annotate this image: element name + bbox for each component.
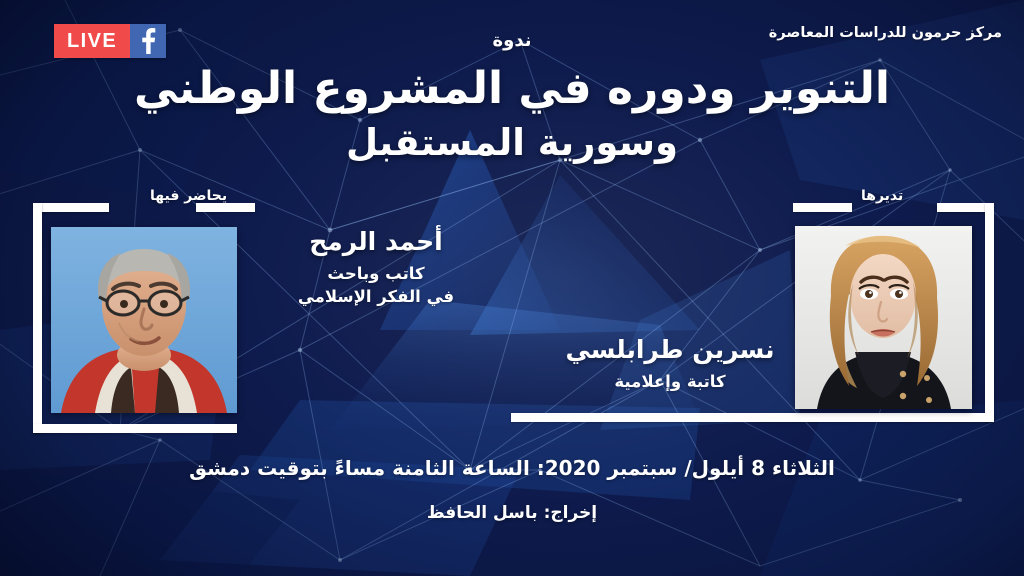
page-title-line-2: وسورية المستقبل [0, 124, 1024, 163]
speaker-role-line-1: كاتب وباحث [256, 263, 496, 284]
speaker-frame-left-bar [33, 203, 42, 433]
director-credit: إخراج: باسل الحافظ [0, 503, 1024, 523]
event-datetime: الثلاثاء 8 أيلول/ سبتمبر 2020: الساعة ال… [0, 456, 1024, 480]
speaker-info: أحمد الرمح كاتب وباحث في الفكر الإسلامي [256, 228, 496, 307]
speaker-role-line-2: في الفكر الإسلامي [256, 286, 496, 307]
host-frame-bottom-bar [511, 413, 994, 422]
event-kicker: ندوة [0, 30, 1024, 51]
host-frame-top-left-bar [793, 203, 852, 212]
speaker-caption: يحاضر فيها [150, 188, 227, 204]
host-photo [795, 226, 972, 409]
speaker-frame-top-left-bar [33, 203, 109, 212]
page-title-line-1: التنوير ودوره في المشروع الوطني [0, 66, 1024, 112]
host-caption: تديرها [861, 188, 903, 204]
host-frame-right-bar [985, 203, 994, 422]
broadcast-banner: LIVE مركز حرمون للدراسات المعاصرة ندوة ا… [0, 0, 1024, 576]
host-name: نسرين طرابلسي [545, 336, 795, 365]
speaker-photo [51, 227, 237, 413]
speaker-frame-top-right-bar [196, 203, 255, 212]
host-info: نسرين طرابلسي كاتبة وإعلامية [545, 336, 795, 392]
speaker-frame-bottom-bar [33, 424, 237, 433]
host-role-line-1: كاتبة وإعلامية [545, 371, 795, 392]
speaker-name: أحمد الرمح [256, 228, 496, 257]
